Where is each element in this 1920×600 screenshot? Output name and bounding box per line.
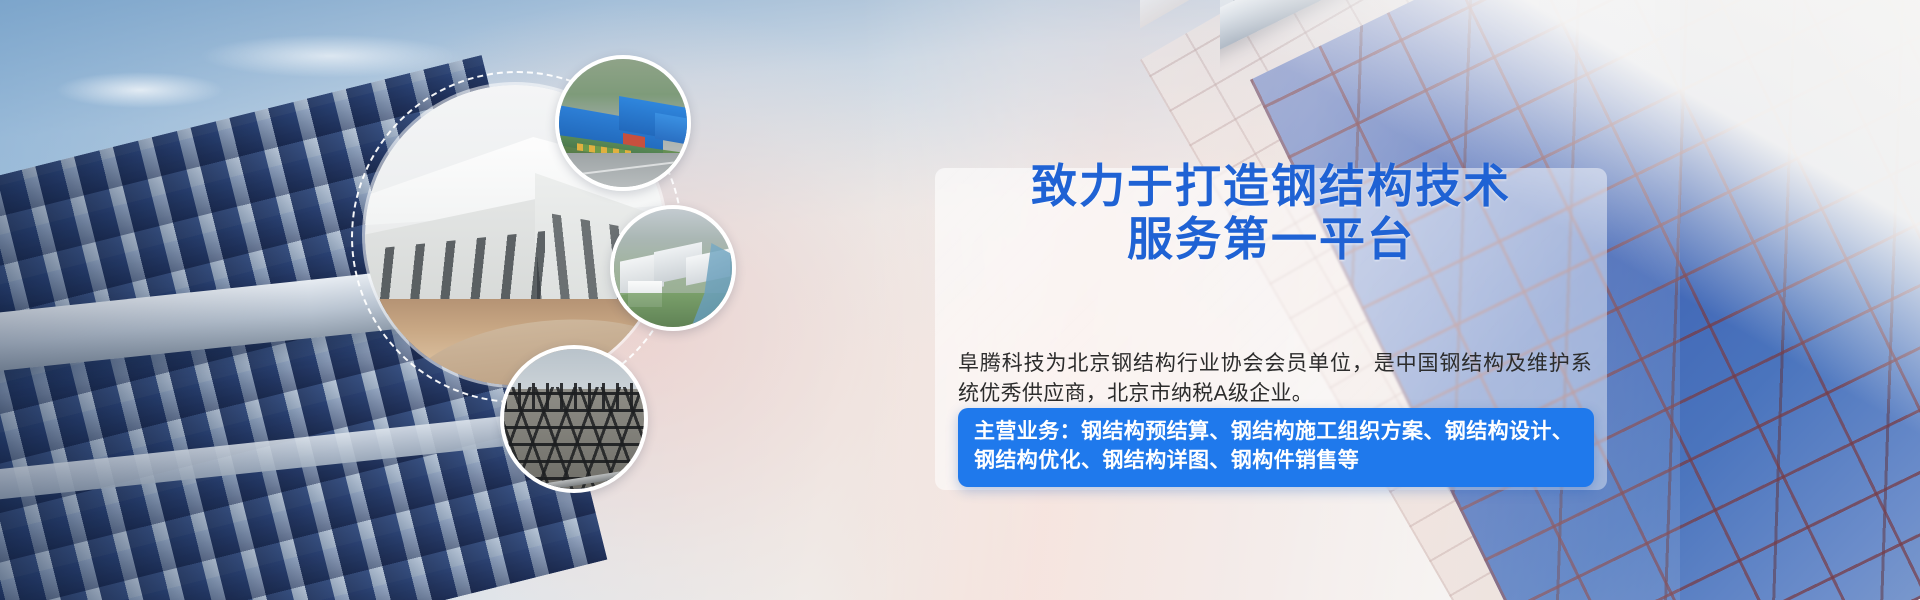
collage-thumb-industrial-park (555, 55, 691, 191)
thumb1-road (559, 153, 691, 187)
banner-description: 阜腾科技为北京钢结构行业协会会员单位，是中国钢结构及维护系统优秀供应商，北京市纳… (958, 349, 1592, 410)
main-business-badge: 主营业务：钢结构预结算、钢结构施工组织方案、钢结构设计、钢结构优化、钢结构详图、… (958, 408, 1594, 487)
collage-thumb-steel-truss (500, 345, 648, 493)
collage-thumb-office-campus (610, 205, 736, 331)
banner-headline: 致力于打造钢结构技术 服务第一平台 (935, 160, 1607, 267)
photo-collage (355, 55, 775, 525)
thumb3-posts (504, 383, 644, 409)
hero-banner: 致力于打造钢结构技术 服务第一平台 阜腾科技为北京钢结构行业协会会员单位，是中国… (0, 0, 1920, 600)
